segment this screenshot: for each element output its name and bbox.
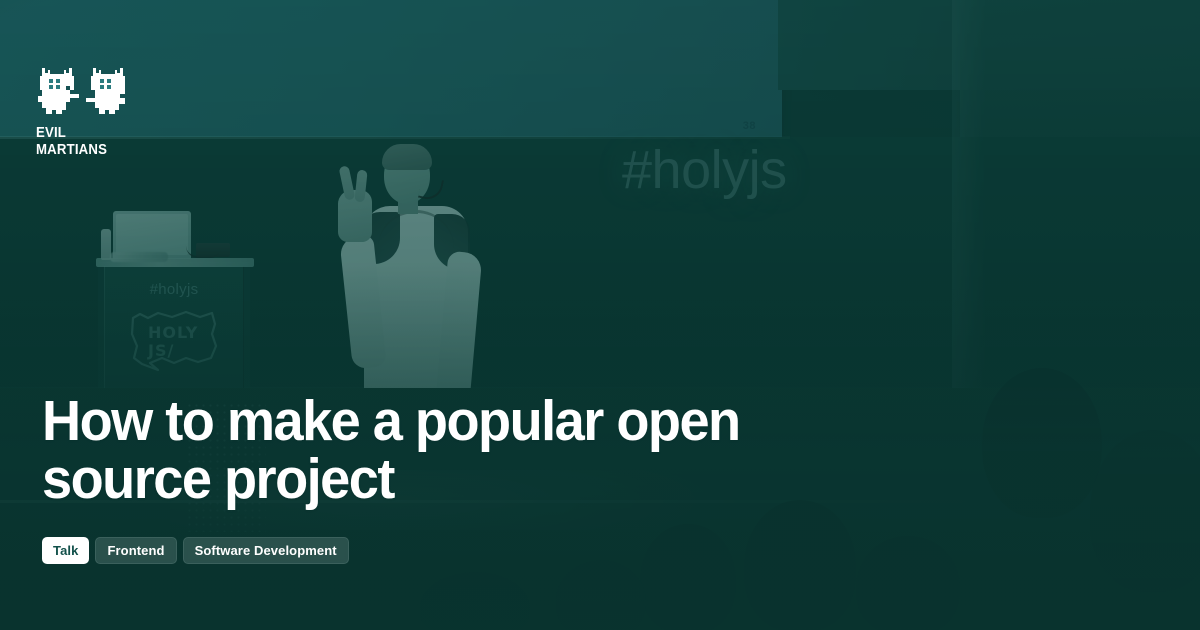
- social-share-card: 38 #holyjs #holyjs HOLY JS/: [0, 0, 1200, 630]
- vignette-overlay: [0, 0, 1200, 630]
- evil-martians-logo-icon: [36, 64, 128, 120]
- brand-wordmark: EVIL MARTIANS: [36, 124, 117, 158]
- page-title: How to make a popular open source projec…: [42, 392, 935, 508]
- background-photo: 38 #holyjs #holyjs HOLY JS/: [0, 0, 1200, 630]
- tag-frontend[interactable]: Frontend: [95, 537, 176, 564]
- tag-talk[interactable]: Talk: [42, 537, 89, 564]
- tag-software-development[interactable]: Software Development: [183, 537, 349, 564]
- brand-logo[interactable]: EVIL MARTIANS: [36, 64, 128, 144]
- tag-list: Talk Frontend Software Development: [42, 537, 349, 564]
